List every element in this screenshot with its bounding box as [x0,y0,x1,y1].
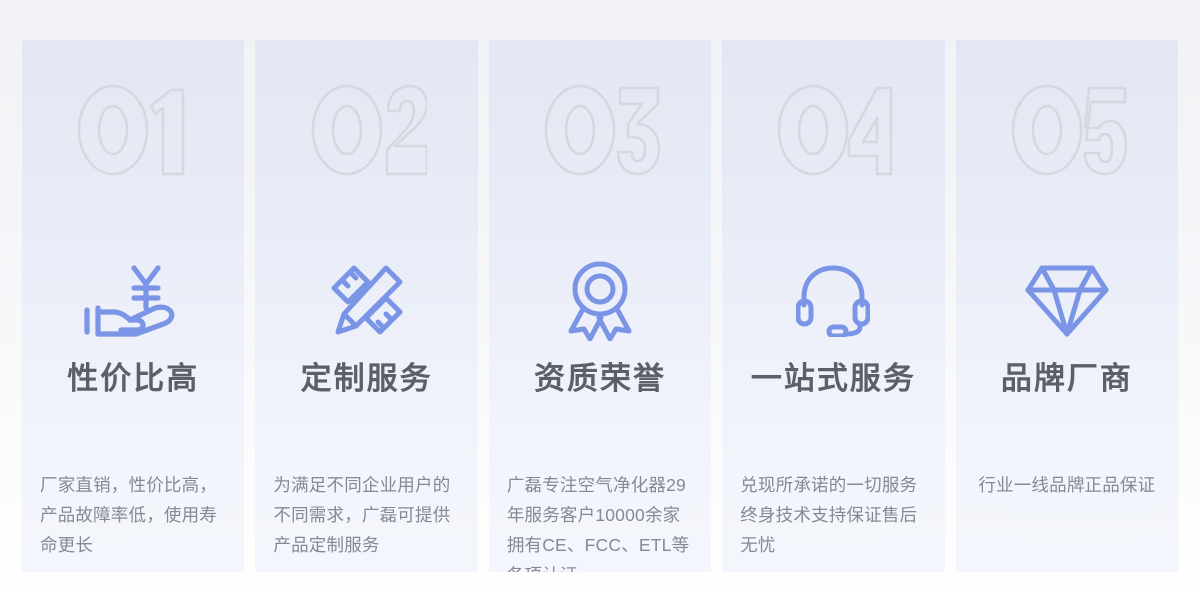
card-description: 为满足不同企业用户的不同需求，广磊可提供产品定制服务 [273,470,459,560]
card-title: 一站式服务 [722,358,944,400]
card-title: 定制服务 [255,358,477,400]
card-title: 资质荣誉 [489,358,711,400]
feature-card-list: 性价比高 厂家直销，性价比高，产品故障率低，使用寿命更长 [22,40,1178,572]
card-number-02 [255,84,477,176]
feature-card[interactable]: 资质荣誉 广磊专注空气净化器29年服务客户10000余家拥有CE、FCC、ETL… [489,40,711,572]
card-title: 性价比高 [22,358,244,400]
feature-card[interactable]: 一站式服务 兑现所承诺的一切服务终身技术支持保证售后无忧 [722,40,944,572]
card-description: 兑现所承诺的一切服务终身技术支持保证售后无忧 [740,470,926,560]
pencil-ruler-icon [255,260,477,340]
hand-holding-yen-icon [22,260,244,340]
card-number-05 [956,84,1178,176]
card-title: 品牌厂商 [956,358,1178,400]
card-number-04 [722,84,944,176]
award-ribbon-icon [489,260,711,340]
diamond-icon [956,260,1178,340]
card-description: 广磊专注空气净化器29年服务客户10000余家拥有CE、FCC、ETL等各项认证 [507,470,693,572]
feature-card[interactable]: 定制服务 为满足不同企业用户的不同需求，广磊可提供产品定制服务 [255,40,477,572]
feature-card[interactable]: 性价比高 厂家直销，性价比高，产品故障率低，使用寿命更长 [22,40,244,572]
card-number-01 [22,84,244,176]
card-description: 厂家直销，性价比高，产品故障率低，使用寿命更长 [40,470,226,560]
card-description: 行业一线品牌正品保证 [974,470,1160,500]
feature-highlights-page: 性价比高 厂家直销，性价比高，产品故障率低，使用寿命更长 [0,0,1200,600]
headset-icon [722,260,944,340]
card-number-03 [489,84,711,176]
feature-card[interactable]: 品牌厂商 行业一线品牌正品保证 [956,40,1178,572]
